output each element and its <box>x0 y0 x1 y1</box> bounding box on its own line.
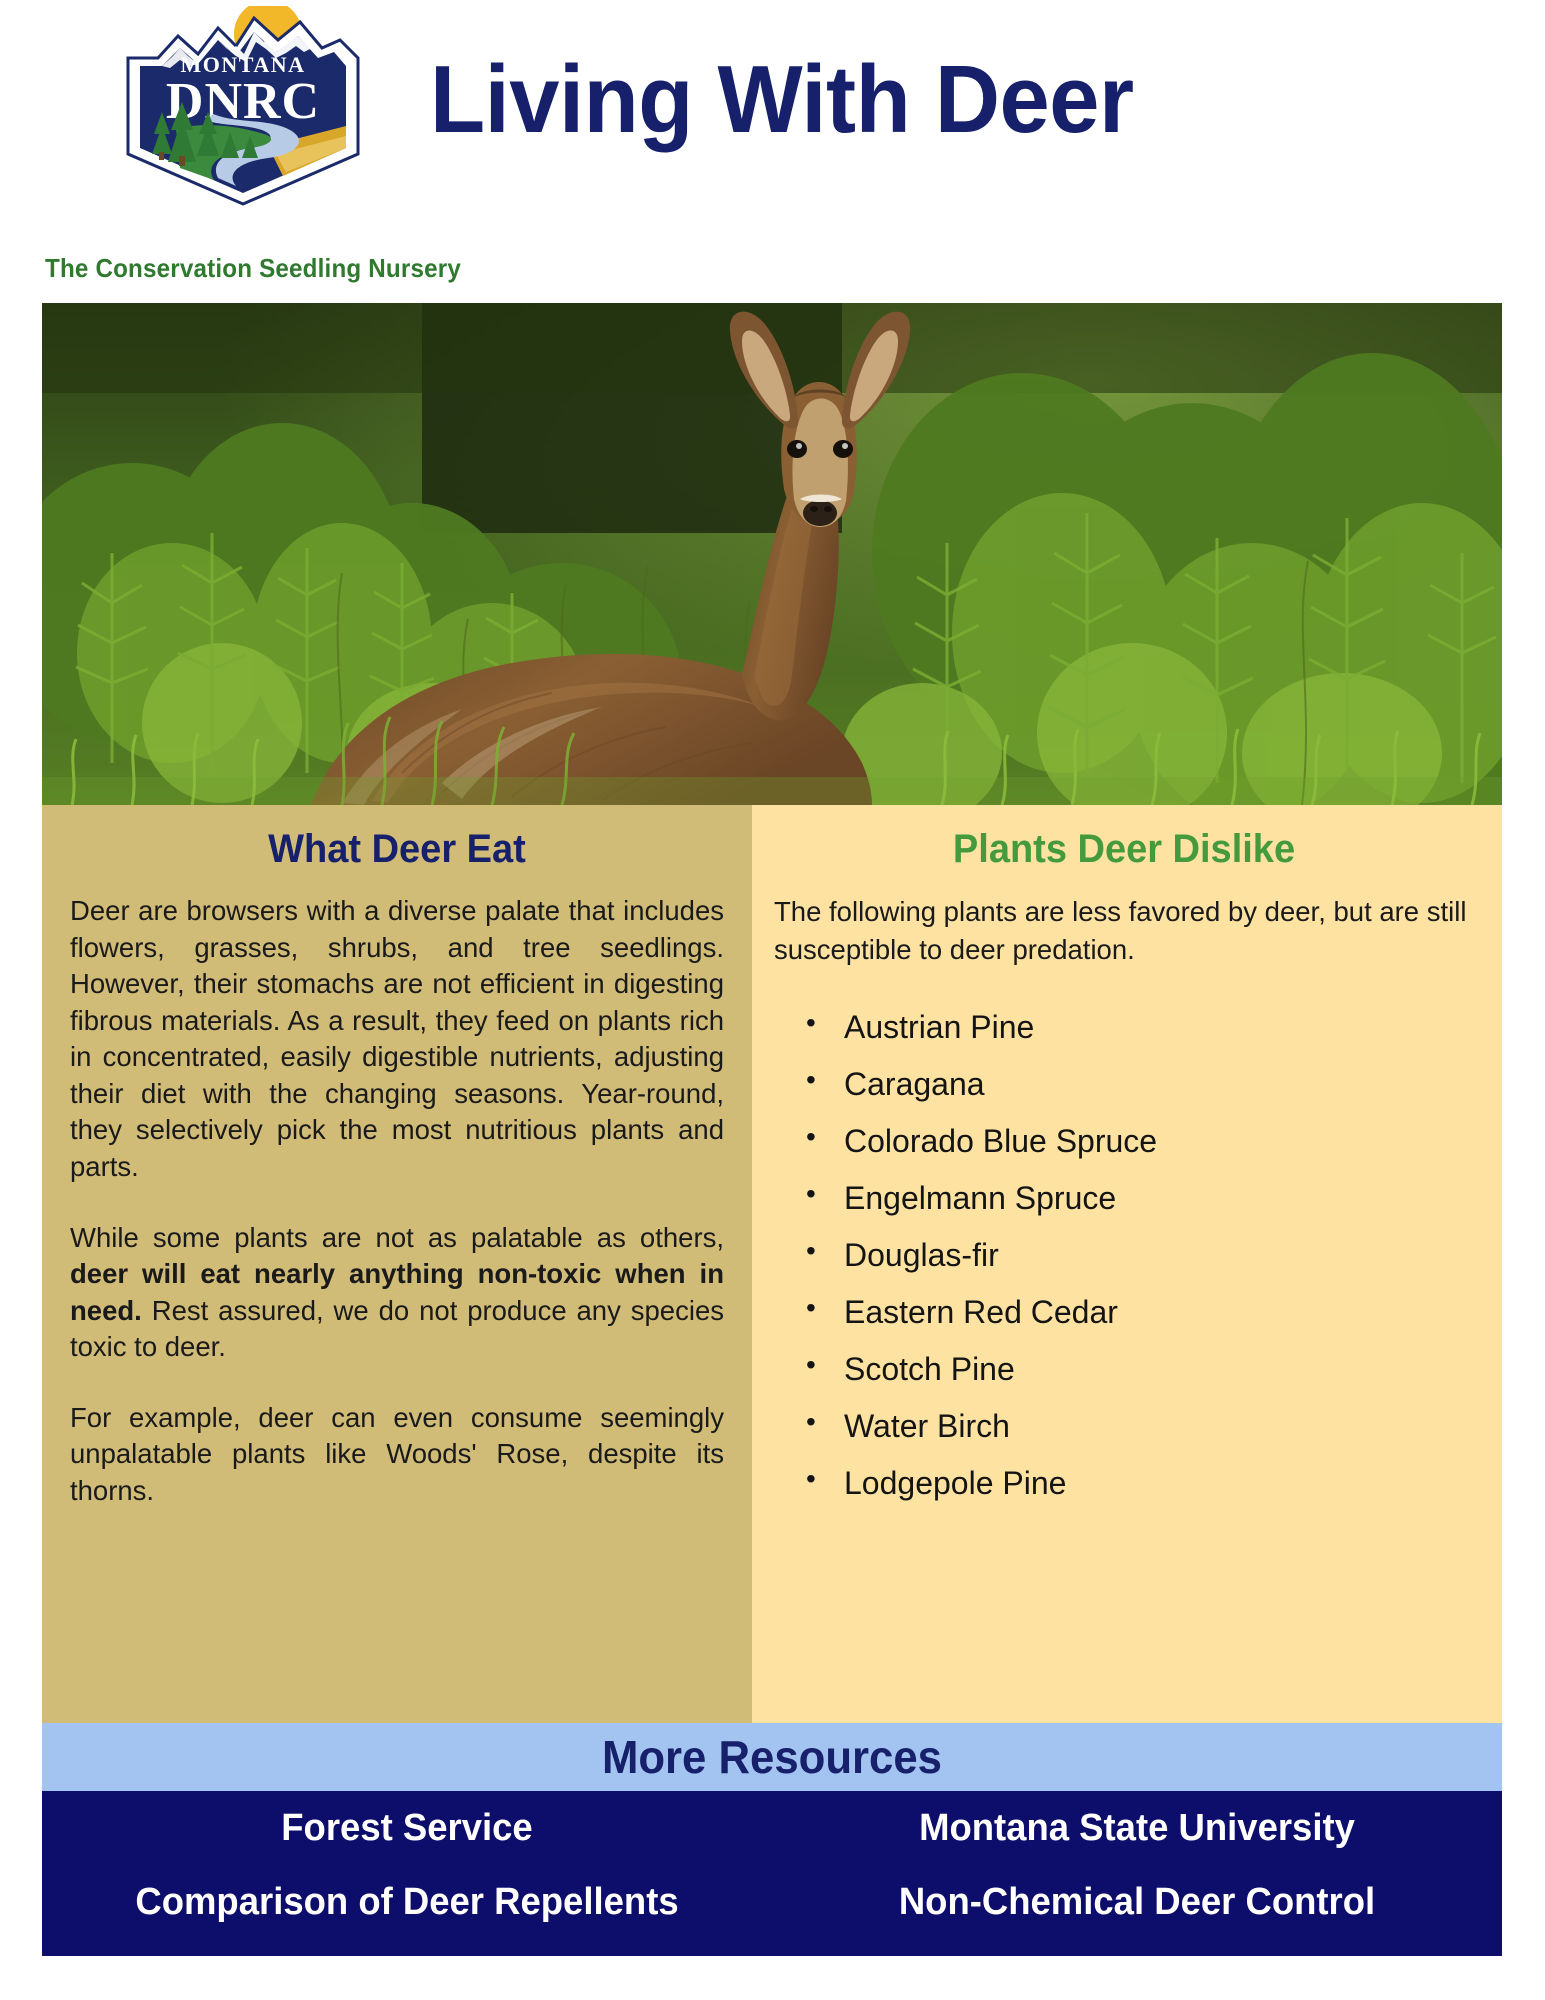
list-item: Lodgepole Pine <box>806 1467 1474 1499</box>
resource-link-msu-title: Montana State University <box>787 1809 1488 1847</box>
list-item: Eastern Red Cedar <box>806 1296 1474 1328</box>
more-resources-heading: More Resources <box>602 1723 942 1791</box>
what-deer-eat-heading: What Deer Eat <box>86 827 707 871</box>
plants-deer-dislike-column: Plants Deer Dislike The following plants… <box>752 805 1502 1723</box>
plants-deer-dislike-heading: Plants Deer Dislike <box>792 827 1457 871</box>
para2-tail: Rest assured, we do not produce any spec… <box>70 1295 724 1363</box>
para2-lead: While some plants are not as palatable a… <box>70 1222 724 1253</box>
list-item: Caragana <box>806 1068 1474 1100</box>
deer-diet-paragraph-2: While some plants are not as palatable a… <box>70 1220 724 1366</box>
page-title: Living With Deer <box>430 50 1426 151</box>
content-columns: What Deer Eat Deer are browsers with a d… <box>42 805 1502 1723</box>
page-header: MONTANA DNRC Living <box>0 0 1545 300</box>
list-item: Scotch Pine <box>806 1353 1474 1385</box>
deer-diet-paragraph-3: For example, deer can even consume seemi… <box>70 1400 724 1510</box>
montana-dnrc-logo: MONTANA DNRC <box>118 6 368 211</box>
deer-diet-paragraph-1: Deer are browsers with a diverse palate … <box>70 893 724 1186</box>
resources-links-bar: Forest Service Comparison of Deer Repell… <box>42 1791 1502 1956</box>
plant-list: Austrian Pine Caragana Colorado Blue Spr… <box>774 1011 1474 1499</box>
nursery-tagline: The Conservation Seedling Nursery <box>45 253 461 284</box>
list-item: Douglas-fir <box>806 1239 1474 1271</box>
resource-link-forest-service[interactable]: Forest Service Comparison of Deer Repell… <box>42 1791 772 1956</box>
resource-link-msu[interactable]: Montana State University Non-Chemical De… <box>772 1791 1502 1956</box>
resource-link-forest-service-title: Forest Service <box>57 1809 758 1847</box>
plants-intro-text: The following plants are less favored by… <box>774 893 1474 969</box>
montana-dnrc-logo-icon: MONTANA DNRC <box>118 6 368 211</box>
deer-photo-illustration <box>42 303 1502 805</box>
what-deer-eat-column: What Deer Eat Deer are browsers with a d… <box>42 805 752 1723</box>
more-resources-heading-bar: More Resources <box>42 1723 1502 1791</box>
list-item: Colorado Blue Spruce <box>806 1125 1474 1157</box>
deer-photo <box>42 303 1502 805</box>
list-item: Engelmann Spruce <box>806 1182 1474 1214</box>
resource-link-forest-service-subtitle: Comparison of Deer Repellents <box>57 1883 758 1921</box>
resource-link-msu-subtitle: Non-Chemical Deer Control <box>787 1883 1488 1921</box>
list-item: Water Birch <box>806 1410 1474 1442</box>
list-item: Austrian Pine <box>806 1011 1474 1043</box>
